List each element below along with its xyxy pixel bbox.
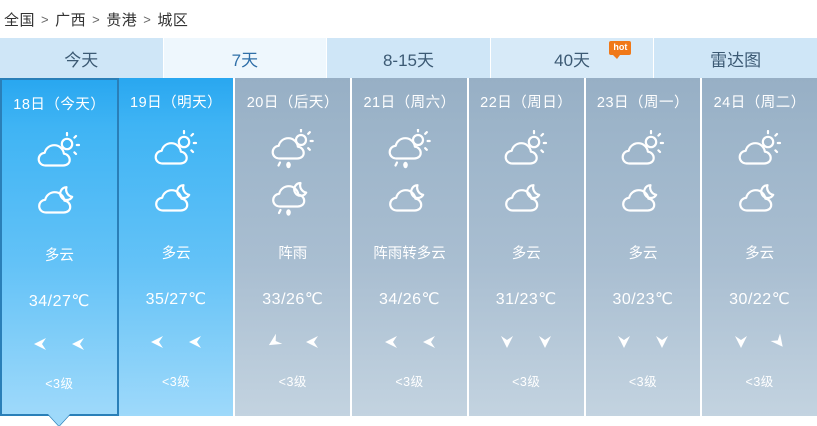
forecast-range-tabs: 今天 7天 8-15天 40天 hot 雷达图	[0, 38, 817, 78]
forecast-temperature: 34/27℃	[29, 291, 90, 311]
moon-behind-cloud-rain-icon	[267, 178, 319, 218]
daytime-weather-icon-slot	[500, 128, 552, 172]
wind-arrow-southeast-icon	[769, 334, 789, 350]
forecast-day-title: 24日（周二）	[714, 91, 806, 112]
night-weather-icon-slot	[384, 176, 436, 220]
breadcrumb-item-city[interactable]: 贵港	[106, 9, 137, 30]
wind-level: <3级	[279, 371, 307, 390]
night-weather-icon-slot	[150, 176, 202, 220]
forecast-temperature: 30/22℃	[729, 289, 790, 309]
breadcrumb-separator: >	[41, 12, 49, 27]
wind-level: <3级	[45, 373, 73, 392]
moon-behind-cloud-icon	[384, 179, 436, 217]
wind-level: <3级	[746, 371, 774, 390]
forecast-condition: 多云	[162, 242, 191, 263]
forecast-day-title: 23日（周一）	[597, 91, 689, 112]
breadcrumb-item-national[interactable]: 全国	[4, 9, 35, 30]
sun-behind-cloud-icon	[617, 130, 669, 170]
forecast-day-column[interactable]: 24日（周二） 多云 30/22℃	[702, 78, 817, 416]
daytime-weather-icon-slot	[384, 128, 436, 172]
sun-behind-cloud-rain-icon	[267, 129, 319, 171]
wind-arrow-south-icon	[731, 334, 751, 350]
breadcrumb-separator: >	[92, 12, 100, 27]
forecast-day-title: 19日（明天）	[130, 91, 222, 112]
wind-arrow-west-icon	[68, 336, 88, 352]
sun-behind-cloud-icon	[33, 132, 85, 172]
tab-radar-map-label: 雷达图	[710, 46, 761, 71]
tab-today[interactable]: 今天	[0, 38, 164, 78]
wind-direction-group	[614, 331, 672, 353]
forecast-day-column[interactable]: 19日（明天） 多云 35/27℃	[119, 78, 236, 416]
moon-behind-cloud-icon	[617, 179, 669, 217]
hot-badge: hot	[609, 41, 631, 55]
night-weather-icon-slot	[267, 176, 319, 220]
daytime-weather-icon-slot	[33, 130, 85, 174]
sun-behind-cloud-rain-icon	[384, 129, 436, 171]
wind-arrow-south-icon	[614, 334, 634, 350]
forecast-temperature: 34/26℃	[379, 289, 440, 309]
tab-today-label: 今天	[64, 46, 98, 71]
wind-direction-group	[381, 331, 439, 353]
breadcrumb-separator: >	[143, 12, 151, 27]
moon-behind-cloud-icon	[33, 181, 85, 219]
wind-arrow-west-icon	[147, 334, 167, 350]
tab-radar-map[interactable]: 雷达图	[654, 38, 817, 78]
night-weather-icon-slot	[500, 176, 552, 220]
wind-direction-group	[497, 331, 555, 353]
moon-behind-cloud-icon	[150, 179, 202, 217]
tab-40days[interactable]: 40天 hot	[491, 38, 655, 78]
forecast-day-column[interactable]: 18日（今天） 多云 34/27℃	[0, 78, 119, 416]
forecast-day-title: 20日（后天）	[247, 91, 339, 112]
wind-level: <3级	[512, 371, 540, 390]
wind-level: <3级	[162, 371, 190, 390]
breadcrumb-item-district[interactable]: 城区	[157, 9, 188, 30]
breadcrumb-item-province[interactable]: 广西	[55, 9, 86, 30]
wind-direction-group	[264, 331, 322, 353]
forecast-temperature: 31/23℃	[496, 289, 557, 309]
night-weather-icon-slot	[617, 176, 669, 220]
breadcrumb: 全国 > 广西 > 贵港 > 城区	[0, 0, 817, 38]
forecast-condition: 阵雨转多云	[373, 242, 446, 263]
moon-behind-cloud-icon	[734, 179, 786, 217]
sun-behind-cloud-icon	[150, 130, 202, 170]
wind-direction-group	[147, 331, 205, 353]
daytime-weather-icon-slot	[267, 128, 319, 172]
forecast-day-column[interactable]: 21日（周六） 阵雨转多云 34/26℃	[352, 78, 469, 416]
moon-behind-cloud-icon	[500, 179, 552, 217]
seven-day-forecast: 18日（今天） 多云 34/27℃	[0, 78, 817, 416]
wind-direction-group	[30, 333, 88, 355]
tab-7days-label: 7天	[232, 46, 258, 71]
sun-behind-cloud-icon	[734, 130, 786, 170]
forecast-condition: 多云	[628, 242, 657, 263]
daytime-weather-icon-slot	[617, 128, 669, 172]
wind-level: <3级	[629, 371, 657, 390]
tab-8-15days[interactable]: 8-15天	[327, 38, 491, 78]
forecast-condition: 多云	[745, 242, 774, 263]
wind-arrow-west-icon	[302, 334, 322, 350]
forecast-temperature: 35/27℃	[146, 289, 207, 309]
wind-direction-group	[731, 331, 789, 353]
forecast-day-title: 21日（周六）	[363, 91, 455, 112]
forecast-day-title: 22日（周日）	[480, 91, 572, 112]
daytime-weather-icon-slot	[150, 128, 202, 172]
tab-40days-label: 40天	[554, 46, 590, 71]
daytime-weather-icon-slot	[734, 128, 786, 172]
wind-arrow-south-icon	[497, 334, 517, 350]
wind-arrow-south-icon	[535, 334, 555, 350]
wind-arrow-southwest-icon	[264, 334, 284, 350]
tab-8-15days-label: 8-15天	[383, 46, 434, 71]
forecast-condition: 多云	[45, 244, 74, 265]
forecast-temperature: 30/23℃	[612, 289, 673, 309]
tab-7days[interactable]: 7天	[164, 38, 328, 78]
wind-arrow-south-icon	[652, 334, 672, 350]
wind-arrow-west-icon	[30, 336, 50, 352]
forecast-day-column[interactable]: 22日（周日） 多云 31/23℃	[469, 78, 586, 416]
forecast-day-column[interactable]: 23日（周一） 多云 30/23℃	[586, 78, 703, 416]
forecast-day-column[interactable]: 20日（后天） 阵雨 33	[235, 78, 352, 416]
sun-behind-cloud-icon	[500, 130, 552, 170]
forecast-temperature: 33/26℃	[262, 289, 323, 309]
forecast-condition: 多云	[512, 242, 541, 263]
wind-arrow-west-icon	[381, 334, 401, 350]
night-weather-icon-slot	[33, 178, 85, 222]
forecast-condition: 阵雨	[278, 242, 307, 263]
night-weather-icon-slot	[734, 176, 786, 220]
wind-arrow-west-icon	[185, 334, 205, 350]
wind-arrow-west-icon	[419, 334, 439, 350]
forecast-day-title: 18日（今天）	[13, 93, 105, 114]
wind-level: <3级	[395, 371, 423, 390]
